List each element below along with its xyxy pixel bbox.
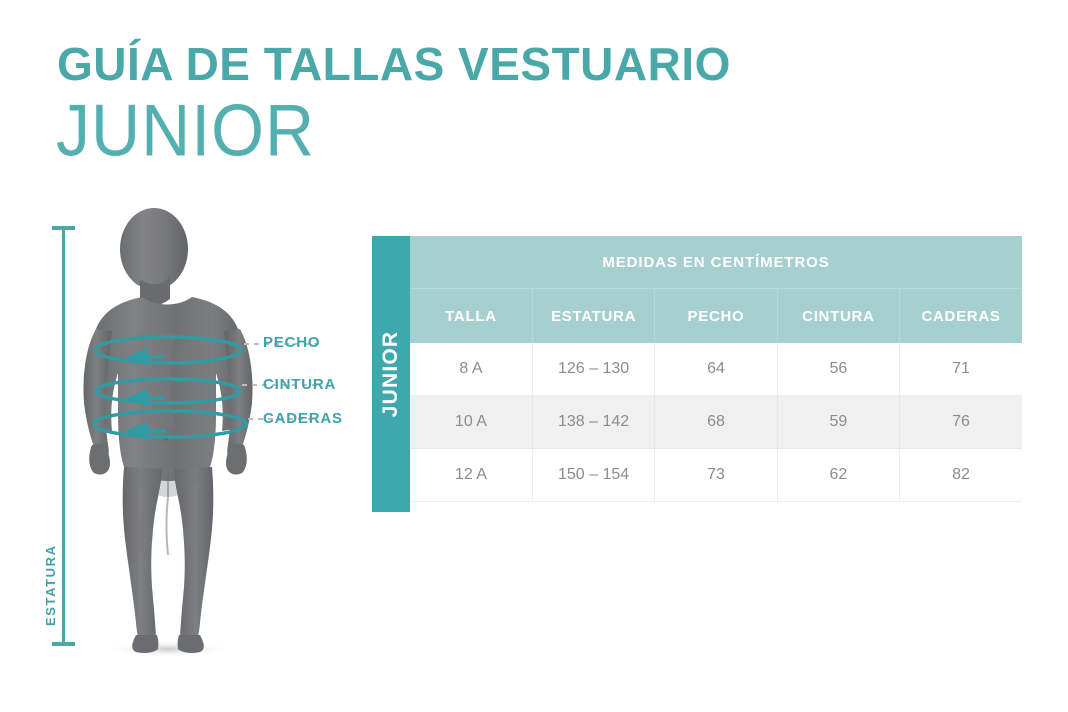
- cell-talla: 10 A: [410, 396, 532, 449]
- table-row: 12 A 150 – 154 73 62 82: [410, 449, 1022, 502]
- column-header-caderas: CADERAS: [900, 289, 1022, 344]
- table-side-tab-label: JUNIOR: [379, 331, 403, 418]
- column-header-pecho: PECHO: [655, 289, 777, 344]
- table-band-title: MEDIDAS EN CENTÍMETROS: [410, 236, 1022, 289]
- cell-cintura: 56: [777, 343, 899, 396]
- waist-label: CINTURA: [263, 376, 336, 393]
- height-measure-bar: ESTATURA: [52, 226, 74, 646]
- table-band-row: MEDIDAS EN CENTÍMETROS: [410, 236, 1022, 289]
- column-header-cintura: CINTURA: [777, 289, 899, 344]
- cell-estatura: 126 – 130: [532, 343, 654, 396]
- mannequin-figure: [78, 205, 258, 660]
- page-subtitle: JUNIOR: [56, 94, 315, 167]
- height-bar-stem: [62, 226, 65, 646]
- chest-label: PECHO: [263, 334, 320, 351]
- column-header-estatura: ESTATURA: [532, 289, 654, 344]
- cell-caderas: 71: [900, 343, 1022, 396]
- cell-pecho: 73: [655, 449, 777, 502]
- hips-label: CADERAS: [263, 410, 343, 427]
- table-header-row: TALLA ESTATURA PECHO CINTURA CADERAS: [410, 289, 1022, 344]
- size-guide-page: GUÍA DE TALLAS VESTUARIO JUNIOR ESTATURA: [0, 0, 1068, 712]
- table-side-tab: JUNIOR: [372, 236, 410, 512]
- cell-pecho: 64: [655, 343, 777, 396]
- page-title: GUÍA DE TALLAS VESTUARIO: [57, 41, 731, 87]
- cell-caderas: 82: [900, 449, 1022, 502]
- cell-estatura: 138 – 142: [532, 396, 654, 449]
- cell-cintura: 62: [777, 449, 899, 502]
- height-bar-cap-bottom: [52, 642, 75, 646]
- column-header-talla: TALLA: [410, 289, 532, 344]
- table-row: 8 A 126 – 130 64 56 71: [410, 343, 1022, 396]
- cell-talla: 12 A: [410, 449, 532, 502]
- cell-pecho: 68: [655, 396, 777, 449]
- cell-cintura: 59: [777, 396, 899, 449]
- cell-caderas: 76: [900, 396, 1022, 449]
- cell-estatura: 150 – 154: [532, 449, 654, 502]
- cell-talla: 8 A: [410, 343, 532, 396]
- height-label: ESTATURA: [43, 544, 58, 626]
- table-row: 10 A 138 – 142 68 59 76: [410, 396, 1022, 449]
- size-table: MEDIDAS EN CENTÍMETROS TALLA ESTATURA PE…: [410, 236, 1022, 502]
